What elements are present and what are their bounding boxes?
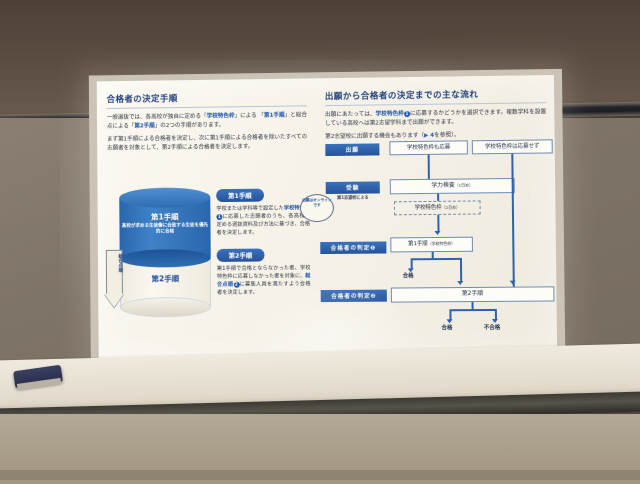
badge-two: 2: [233, 282, 239, 288]
flow-result-step2-pass: 合格: [441, 323, 452, 331]
flow-box-apply-with-special: 学校特色枠も応募: [389, 140, 468, 155]
step1-text: 学校または学科等で設定した学校特色枠1に応募した志願者のうち、各高校の定める選抜…: [216, 204, 310, 237]
flow-result-step1-pass: 合格: [403, 271, 414, 279]
badge-one-right: 1: [404, 111, 410, 117]
left-column: 合格者の決定手順 一般選抜では、各高校が独自に定める「学校特色枠」による 「第1…: [97, 78, 314, 157]
flow-box-step2: 第2手順: [391, 286, 555, 302]
procedure-cylinder-diagram: 第1手順 高校が求める生徒像に合致する生徒を優先的に合格 第2手順 総合点順: [119, 187, 211, 319]
left-section-title: 合格者の決定手順: [107, 90, 307, 109]
flow-box-academic-exam: 学力検査 （1日め）: [390, 178, 515, 194]
connector-step1-to-step2: [460, 258, 462, 282]
flow-box-apply-without-special: 学校特色枠は応募せず: [472, 139, 553, 154]
connector-special-to-step1: [437, 215, 439, 232]
connector-exam-to-special: [437, 194, 439, 201]
arrow-label: 総合点順: [109, 254, 122, 272]
step2-pill: 第2手順: [217, 249, 264, 262]
left-paragraph-2: まず第1手順による合格者を決定し、次に第1手順による合格者を除いたすべての志願者…: [107, 133, 307, 153]
flow-box-step1-text: 第1手順: [408, 241, 428, 248]
admission-flow-chart: 出願はオンラインです 出願 受験 第1志望校による 合格者の判定❶ 合格者の判定…: [317, 135, 557, 353]
cylinder-step2-label: 第2手順: [120, 273, 211, 285]
connector-step1-split: [411, 258, 461, 260]
right-paragraph-1: 出願にあたっては、学校特色枠1に応募するかどうかを選択できます。複数学科を設置し…: [325, 108, 546, 129]
flow-result-step2-fail: 不合格: [484, 323, 500, 331]
floor-line: [0, 470, 640, 480]
flow-row-label-exam: 受験: [326, 181, 380, 194]
flow-box-special-frame-exam: 学校特色枠 （2日め）: [394, 200, 481, 215]
right-section-title: 出願から合格者の決定までの主な流れ: [325, 87, 546, 106]
classroom-scene: 合格者の決定手順 一般選抜では、各高校が独自に定める「学校特色枠」による 「第1…: [0, 0, 640, 480]
flow-row-label-application: 出願: [325, 143, 379, 156]
badge-one: 1: [216, 214, 222, 220]
left-body-text: 一般選抜では、各高校が独自に定める「学校特色枠」による 「第1手順」と総合点によ…: [107, 111, 308, 153]
step-descriptions: 第1手順 学校または学科等で設定した学校特色枠1に応募した志願者のうち、各高校の…: [216, 182, 311, 303]
cylinder-step1-sublabel: 高校が求める生徒像に合致する生徒を優先的に合格: [121, 223, 208, 236]
flow-box-step1: 第1手順 （学校特色枠）: [390, 237, 473, 253]
presentation-slide: 合格者の決定手順 一般選抜では、各高校が独自に定める「学校特色枠」による 「第1…: [97, 75, 557, 359]
flow-row-label-judgement-1: 合格者の判定❶: [320, 241, 386, 254]
arrow-step1-to-step2-icon: [457, 281, 463, 285]
cylinder-step1-label: 第1手順: [119, 211, 210, 223]
cylinder-bottom-ellipse: [120, 297, 211, 318]
callout-text: 出願はオンラインです: [301, 198, 333, 208]
arrow-shaft: 総合点順: [106, 250, 123, 296]
connector-nospecial-to-step2: [511, 154, 514, 287]
online-application-callout: 出願はオンラインです: [300, 194, 336, 224]
arrow-special-to-step1-icon: [434, 231, 440, 235]
connector-step2-split: [449, 309, 495, 311]
flow-row-label-judgement-2: 合格者の判定❷: [321, 290, 387, 303]
connector-apply-to-exam: [428, 155, 430, 179]
step2-text: 第1手順で合格とならなかった者、学校特色枠に応募しなかった者を対象に、総合点順2…: [217, 264, 311, 297]
right-column: 出願から合格者の決定までの主な流れ 出願にあたっては、学校特色枠1に応募するかど…: [317, 75, 555, 146]
flow-box-special-frame-text: 学校特色枠: [415, 205, 442, 212]
flow-box-special-frame-note: （2日め）: [442, 205, 460, 210]
arrow-nospecial-to-step2-icon: [509, 281, 515, 285]
flow-box-step1-note: （学校特色枠）: [428, 242, 455, 247]
step1-pill: 第1手順: [216, 189, 263, 202]
projection-screen: 合格者の決定手順 一般選抜では、各高校が独自に定める「学校特色枠」による 「第1…: [89, 69, 566, 366]
left-paragraph-1: 一般選抜では、各高校が独自に定める「学校特色枠」による 「第1手順」と総合点によ…: [107, 111, 307, 132]
flow-box-academic-exam-text: 学力検査: [431, 183, 454, 190]
flow-box-academic-exam-note: （1日め）: [455, 184, 473, 189]
arrow-head-icon: [104, 294, 124, 308]
total-score-order-arrow: 総合点順: [106, 250, 123, 310]
